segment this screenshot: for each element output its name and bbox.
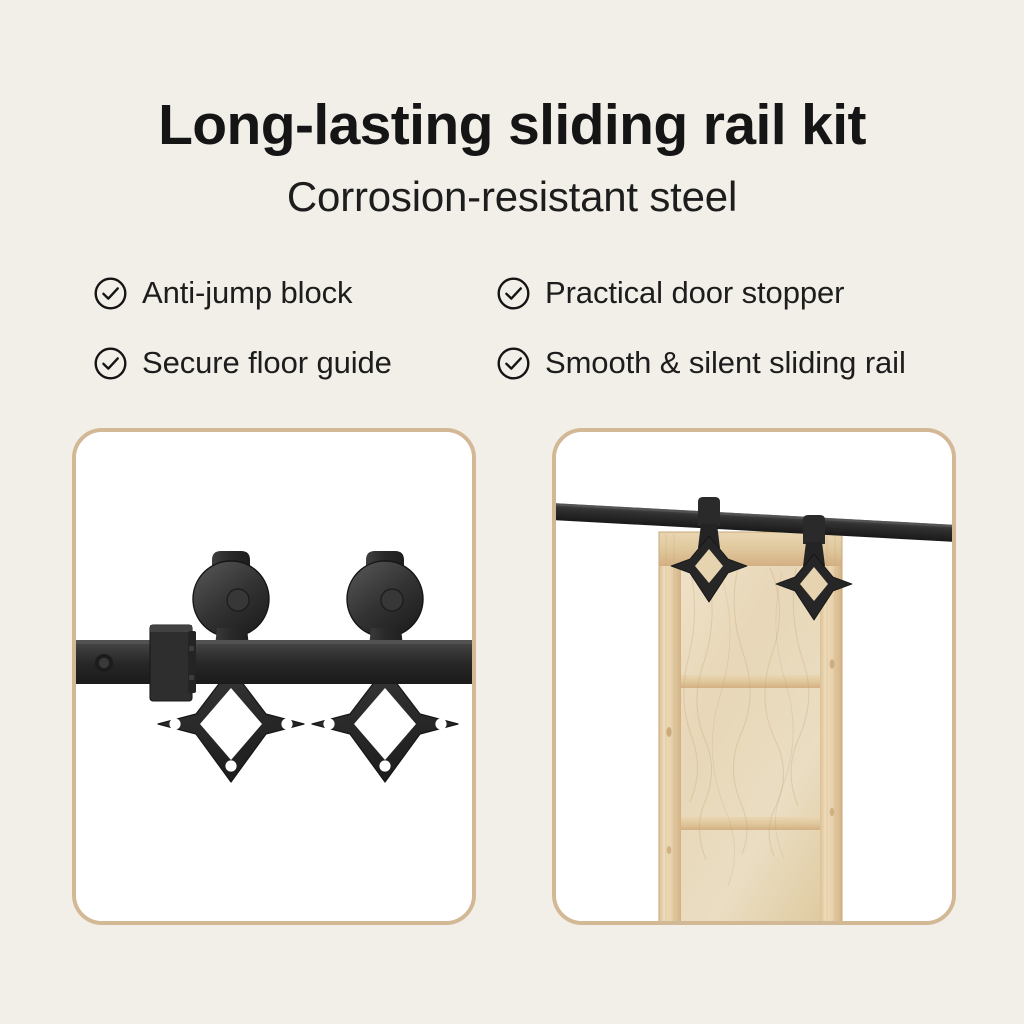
rail-hex-bolt — [95, 654, 113, 672]
page-subtitle: Corrosion-resistant steel — [0, 174, 1024, 220]
feature-item-practical-door-stopper: Practical door stopper — [495, 258, 972, 328]
check-circle-icon — [495, 345, 532, 382]
hardware-closeup-image — [76, 432, 472, 921]
feature-item-anti-jump-block: Anti-jump block — [92, 258, 495, 328]
installed-door-image — [556, 432, 952, 921]
anti-jump-stopper-block — [150, 625, 196, 701]
feature-label: Secure floor guide — [142, 345, 392, 381]
feature-list: Anti-jump block Practical door stopper S… — [92, 258, 972, 398]
feature-item-secure-floor-guide: Secure floor guide — [92, 328, 495, 398]
feature-label: Practical door stopper — [545, 275, 844, 311]
check-circle-icon — [92, 345, 129, 382]
feature-label: Smooth & silent sliding rail — [545, 345, 906, 381]
page-title: Long-lasting sliding rail kit — [0, 96, 1024, 156]
check-circle-icon — [92, 275, 129, 312]
infographic-page: Long-lasting sliding rail kit Corrosion-… — [0, 0, 1024, 1024]
sliding-rail-track — [76, 640, 472, 684]
check-circle-icon — [495, 275, 532, 312]
feature-item-smooth-silent-sliding-rail: Smooth & silent sliding rail — [495, 328, 972, 398]
hardware-closeup-card — [72, 428, 476, 925]
feature-label: Anti-jump block — [142, 275, 352, 311]
installed-door-card — [552, 428, 956, 925]
